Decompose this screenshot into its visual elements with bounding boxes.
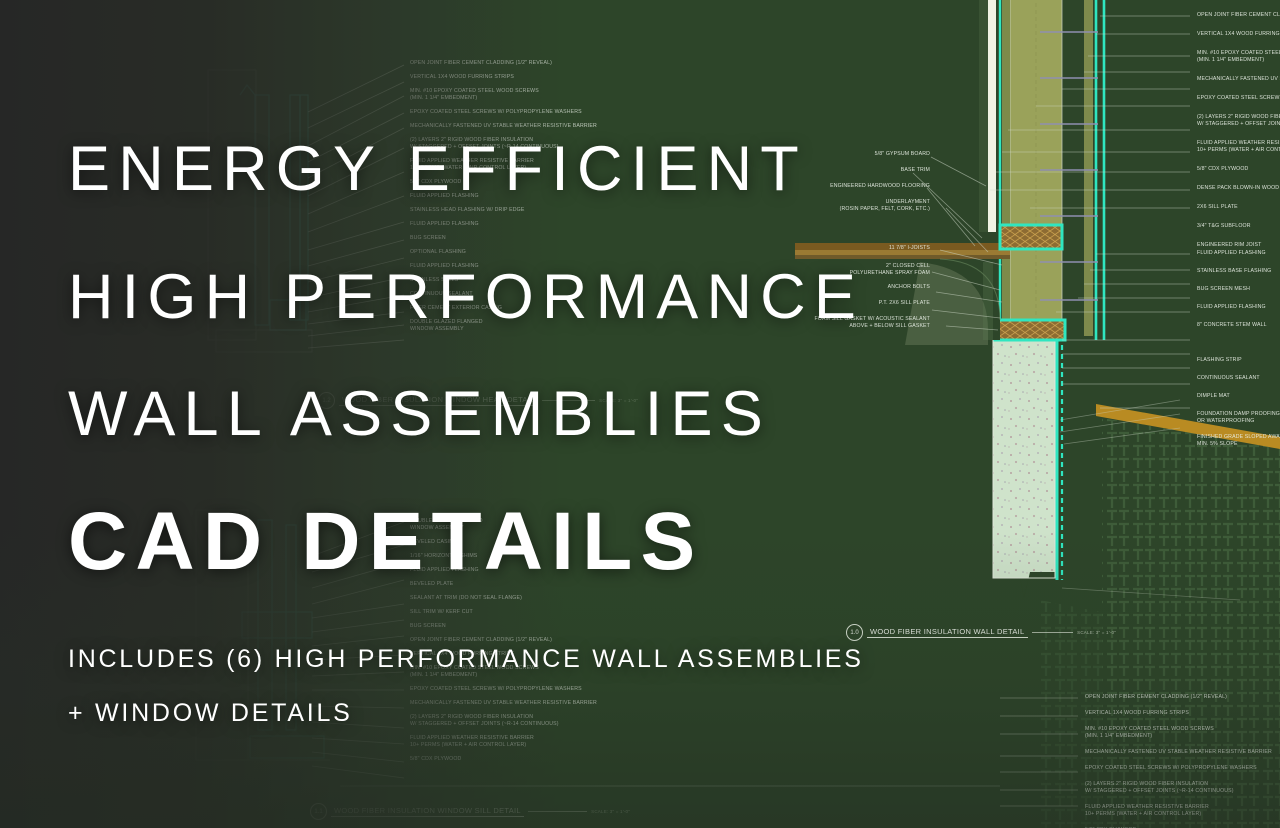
detail-title-1-1: 1.1 WOOD FIBER INSULATION WINDOW SILL DE…	[310, 803, 630, 820]
detail-title-rule	[528, 811, 587, 812]
annotation-block-window-sill: DOUBLE GLAZED FLANGED WINDOW ASSEMBLY BE…	[410, 518, 597, 763]
annotation-block-window-head: OPEN JOINT FIBER CEMENT CLADDING (1/2" R…	[410, 60, 597, 333]
annotation-block-floor-interior: 5/8" GYPSUM BOARD BASE TRIM ENGINEERED H…	[620, 151, 930, 213]
annotation-block-wall-right-lower: FLUID APPLIED FLASHING STAINLESS BASE FL…	[1197, 250, 1280, 448]
annotation-block-wall-right-upper: OPEN JOINT FIBER CEMENT CLADDING (1/2" R…	[1197, 12, 1280, 249]
detail-title-1-0: 1.0 WOOD FIBER INSULATION WALL DETAIL SC…	[846, 624, 1116, 641]
detail-title-rule	[542, 400, 596, 401]
detail-scale-text: SCALE: 3" = 1'-0"	[591, 809, 630, 814]
detail-title-rule	[1032, 632, 1074, 633]
detail-scale-text: SCALE: 3" = 1'-0"	[599, 398, 638, 403]
detail-title-1-2: 1.2 WOOD FIBER INSULATION WINDOW HEAD DE…	[318, 392, 638, 409]
detail-number-bubble: 1.0	[846, 624, 863, 641]
detail-scale-text: SCALE: 3" = 1'-0"	[1077, 630, 1116, 635]
detail-title-text: WOOD FIBER INSULATION WINDOW SILL DETAIL	[331, 806, 524, 817]
cad-drawing-background: OPEN JOINT FIBER CEMENT CLADDING (1/2" R…	[0, 0, 1280, 828]
annotation-block-wall-bottom-right: OPEN JOINT FIBER CEMENT CLADDING (1/2" R…	[1085, 694, 1272, 828]
promo-graphic: OPEN JOINT FIBER CEMENT CLADDING (1/2" R…	[0, 0, 1280, 828]
detail-title-text: WOOD FIBER INSULATION WALL DETAIL	[867, 627, 1028, 638]
detail-number-bubble: 1.1	[310, 803, 327, 820]
annotation-block-floor-structure: 11 7/8" I-JOISTS 2" CLOSED CELL POLYURET…	[620, 245, 930, 330]
detail-title-text: WOOD FIBER INSULATION WINDOW HEAD DETAIL	[339, 395, 538, 406]
detail-number-bubble: 1.2	[318, 392, 335, 409]
